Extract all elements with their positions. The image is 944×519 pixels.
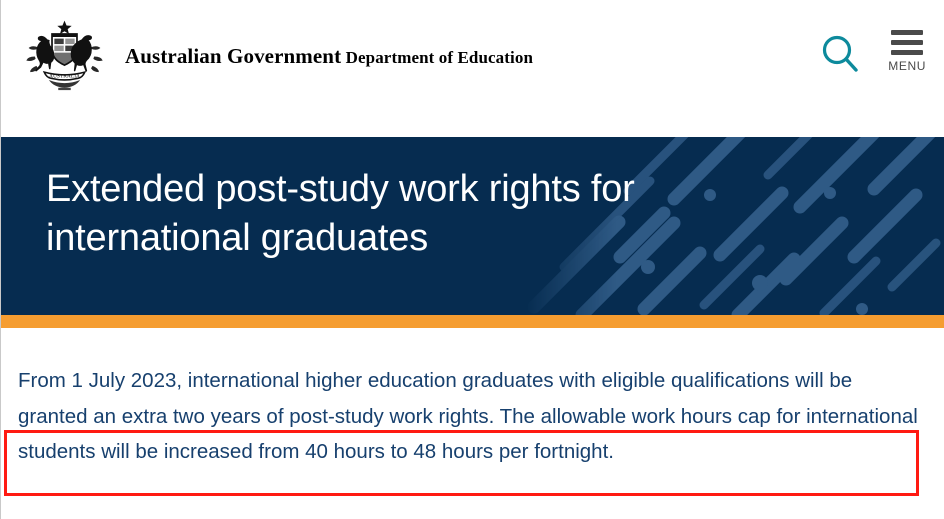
- page-title: Extended post-study work rights for inte…: [46, 165, 726, 262]
- search-icon: [820, 34, 860, 76]
- header-actions: MENU: [820, 30, 926, 76]
- brand-line-department: Department of Education: [346, 48, 533, 67]
- brand-line-government: Australian Government: [125, 44, 341, 68]
- site-header: AUSTRALIA Australian Government Departme…: [1, 0, 944, 137]
- menu-button-label: MENU: [888, 59, 926, 73]
- hamburger-menu-icon: [891, 30, 923, 55]
- commonwealth-coat-of-arms-icon: AUSTRALIA: [17, 16, 112, 94]
- brand-text: Australian Government Department of Educ…: [125, 42, 533, 69]
- accent-bar: [1, 315, 944, 328]
- search-button[interactable]: [820, 34, 860, 76]
- intro-paragraph: From 1 July 2023, international higher e…: [18, 363, 918, 470]
- main-content: From 1 July 2023, international higher e…: [1, 328, 944, 519]
- page-root: AUSTRALIA Australian Government Departme…: [0, 0, 944, 519]
- hero-banner: Extended post-study work rights for inte…: [1, 137, 944, 315]
- site-logo-link[interactable]: AUSTRALIA Australian Government Departme…: [17, 16, 533, 94]
- svg-text:AUSTRALIA: AUSTRALIA: [49, 74, 80, 80]
- menu-button[interactable]: MENU: [888, 30, 926, 73]
